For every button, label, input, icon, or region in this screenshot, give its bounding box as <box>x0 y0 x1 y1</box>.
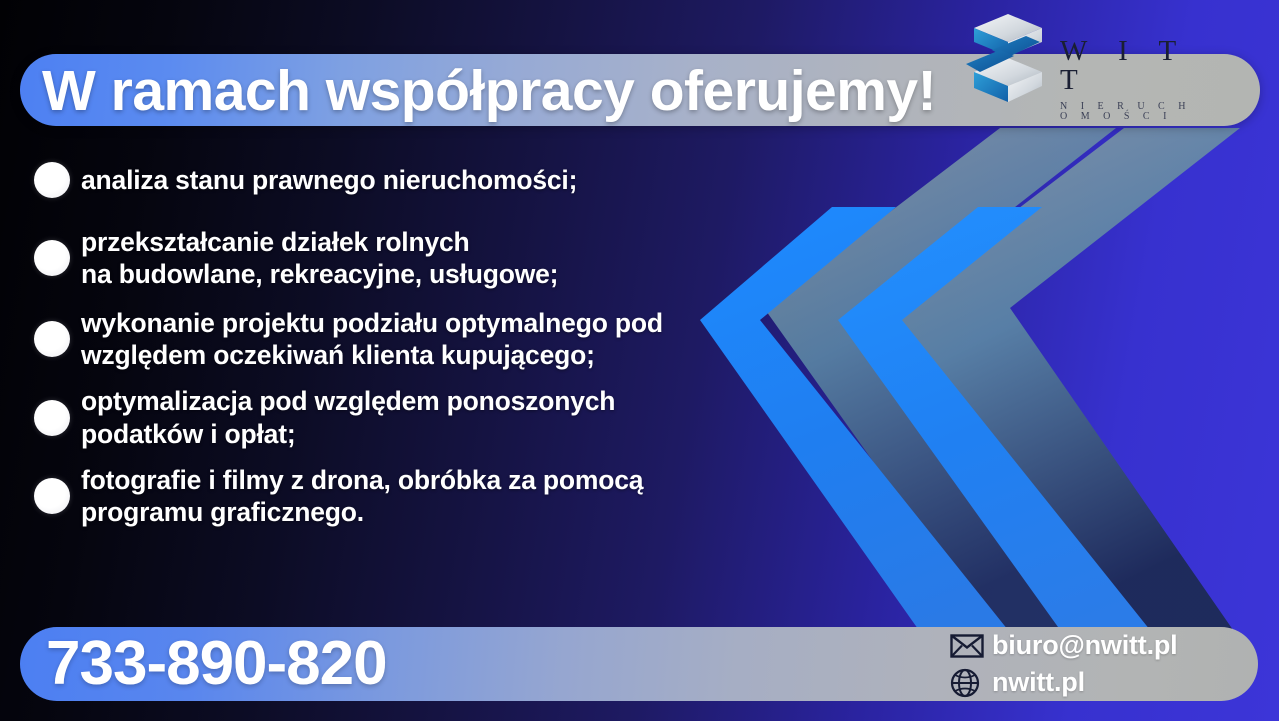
page-title: W ramach współpracy oferujemy! <box>20 45 1000 137</box>
chevron-gray-back <box>888 128 1240 640</box>
contact-details: biuro@nwitt.pl nwitt.pl <box>950 626 1178 702</box>
logo-name: W I T T <box>1060 37 1202 95</box>
phone-number[interactable]: 733-890-820 <box>46 625 387 703</box>
company-logo: W I T T N I E R U C H O M O Ś C I <box>962 8 1202 120</box>
circle-bullet-icon <box>34 400 70 436</box>
envelope-icon <box>950 634 992 658</box>
email-address: biuro@nwitt.pl <box>992 632 1178 659</box>
list-item-label: optymalizacja pod względem ponoszonychpo… <box>81 385 615 450</box>
list-item: przekształcanie działek rolnychna budowl… <box>34 226 814 291</box>
stacked-blocks-logo-icon <box>962 12 1054 116</box>
list-item-label: przekształcanie działek rolnychna budowl… <box>81 226 558 291</box>
list-item: analiza stanu prawnego nieruchomości; <box>34 162 814 198</box>
circle-bullet-icon <box>34 162 70 198</box>
website-row[interactable]: nwitt.pl <box>950 664 1178 701</box>
circle-bullet-icon <box>34 321 70 357</box>
list-item-label: fotografie i filmy z drona, obróbka za p… <box>81 464 643 529</box>
list-item: fotografie i filmy z drona, obróbka za p… <box>34 464 814 529</box>
list-item: optymalizacja pod względem ponoszonychpo… <box>34 385 814 450</box>
list-item: wykonanie projektu podziału optymalnego … <box>34 307 814 372</box>
offer-list: analiza stanu prawnego nieruchomości; pr… <box>34 162 814 544</box>
circle-bullet-icon <box>34 240 70 276</box>
chevron-blue-right <box>838 207 1190 680</box>
promo-slide: W ramach współpracy oferujemy! <box>0 0 1279 721</box>
website-address: nwitt.pl <box>992 669 1085 696</box>
list-item-label: wykonanie projektu podziału optymalnego … <box>81 307 663 372</box>
circle-bullet-icon <box>34 478 70 514</box>
chevron-gray-mid <box>764 128 1116 640</box>
email-row[interactable]: biuro@nwitt.pl <box>950 627 1178 664</box>
globe-icon <box>950 668 992 698</box>
list-item-label: analiza stanu prawnego nieruchomości; <box>81 164 577 196</box>
logo-subtitle: N I E R U C H O M O Ś C I <box>1060 102 1202 122</box>
